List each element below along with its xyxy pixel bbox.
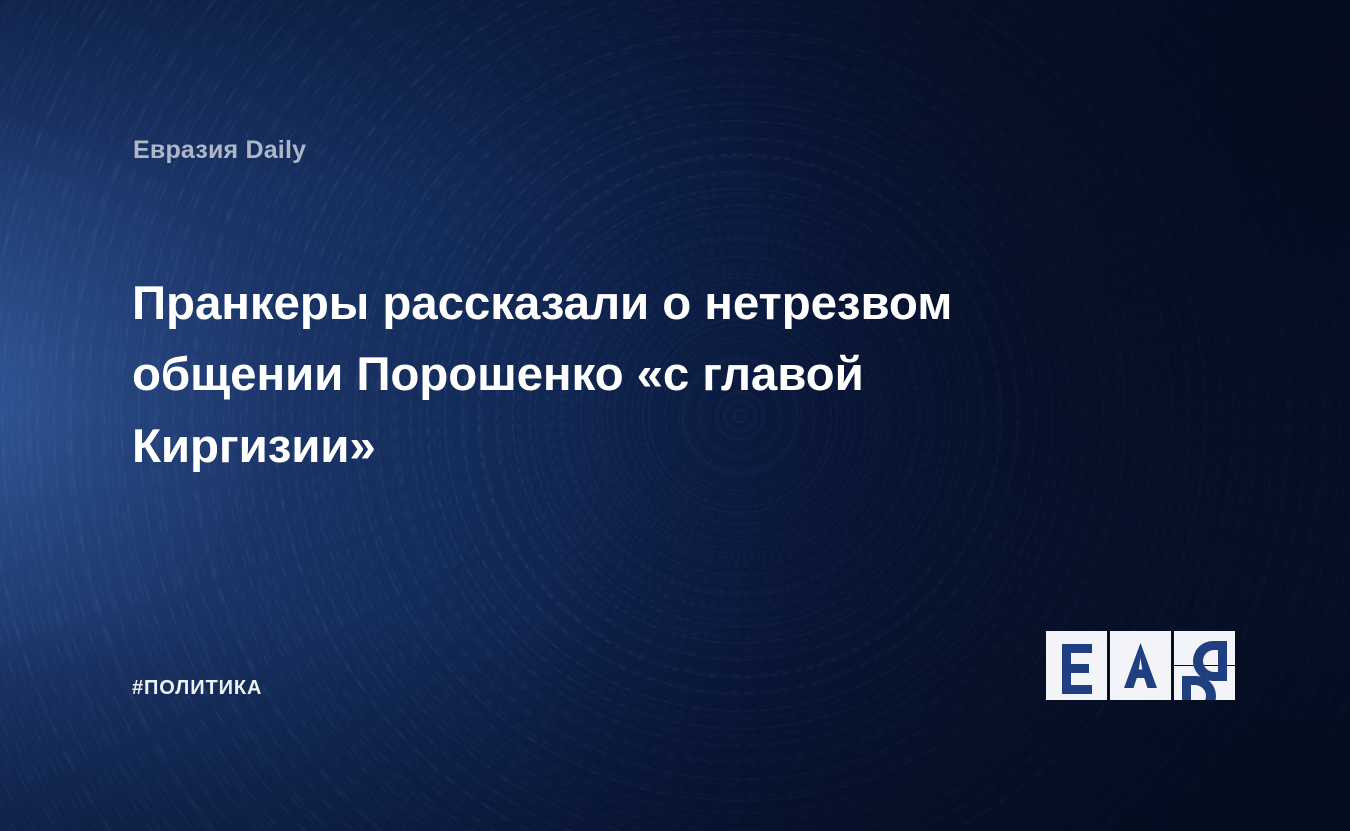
site-watermark: Евразия Daily — [133, 136, 306, 165]
category-hashtag[interactable]: #ПОЛИТИКА — [132, 677, 262, 700]
social-share-card: Евразия Daily Пранкеры рассказали о нетр… — [0, 0, 1350, 831]
eadaily-logo[interactable] — [1046, 631, 1235, 705]
letter-e-icon — [1046, 631, 1107, 700]
headline-title: Пранкеры рассказали о нетрезвом общении … — [132, 268, 1112, 482]
card-content: Евразия Daily Пранкеры рассказали о нетр… — [0, 0, 1350, 831]
logo-tile-a — [1110, 631, 1171, 700]
letter-d-icon — [1174, 631, 1235, 700]
letter-a-icon — [1110, 631, 1171, 700]
logo-tile-e — [1046, 631, 1107, 700]
logo-tile-d — [1174, 631, 1235, 705]
